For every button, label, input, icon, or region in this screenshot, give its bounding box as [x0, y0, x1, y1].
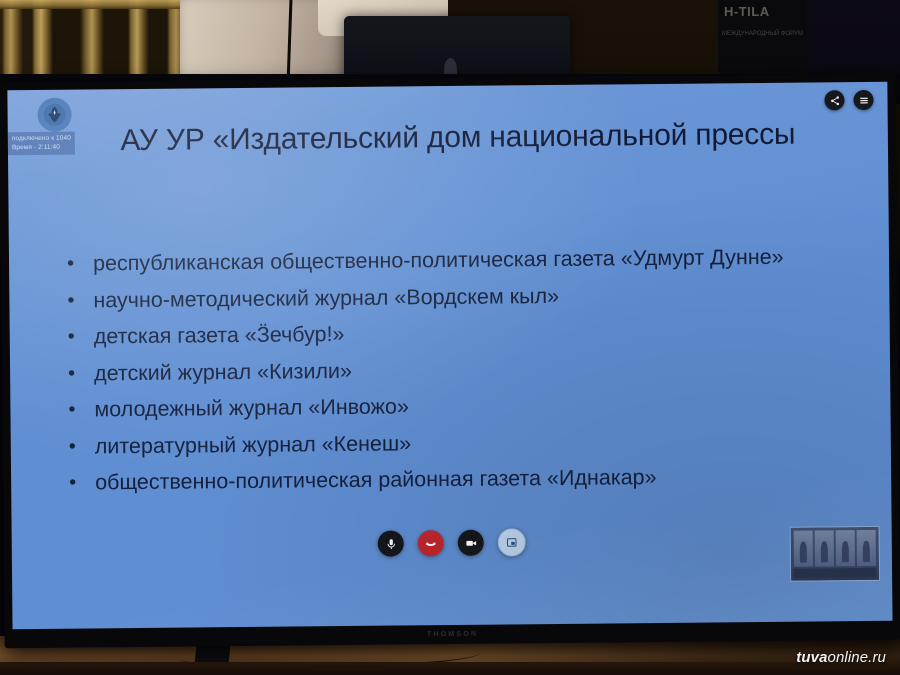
list-item-text: детская газета «Ӟечбур!» — [94, 313, 844, 354]
participant-grid — [794, 530, 876, 567]
microphone-icon — [384, 537, 397, 550]
self-view-thumbnail[interactable] — [790, 526, 881, 582]
hangup-button[interactable] — [418, 530, 444, 556]
hangup-icon — [424, 536, 438, 550]
list-item-text: общественно-политическая районная газета… — [95, 459, 845, 500]
bullet-marker-icon: • — [69, 466, 95, 500]
bullet-marker-icon: • — [69, 430, 95, 464]
list-item: • детский журнал «Кизили» — [68, 350, 844, 391]
list-item-text: республиканская общественно-политическая… — [93, 240, 843, 281]
share-icon — [829, 95, 840, 106]
present-screen-icon — [506, 536, 518, 548]
menu-button[interactable] — [853, 90, 873, 110]
list-item: • молодежный журнал «Инвожо» — [68, 386, 844, 427]
list-item: • детская газета «Ӟечбур!» — [68, 313, 844, 354]
list-item-text: детский журнал «Кизили» — [94, 350, 844, 391]
list-item: • научно-методический журнал «Вордскем к… — [67, 277, 843, 318]
connection-status-overlay: подключено к 1040 Время - 2:11:40 — [8, 132, 75, 156]
connection-status-line2: Время - 2:11:40 — [12, 143, 71, 153]
television: THOMSON подключено к 1040 Время - 2:11:4… — [0, 74, 900, 649]
tv-brand-label: THOMSON — [5, 627, 900, 643]
slide-bullet-list: • республиканская общественно-политическ… — [67, 240, 845, 503]
participant-tile — [857, 530, 876, 566]
list-item: • общественно-политическая районная газе… — [69, 459, 845, 500]
list-item: • республиканская общественно-политическ… — [67, 240, 843, 281]
list-item-text: литературный журнал «Кенеш» — [95, 423, 845, 464]
bullet-marker-icon: • — [68, 357, 94, 391]
participant-tile — [836, 530, 855, 566]
screen-top-right-controls — [824, 90, 873, 110]
menu-icon — [858, 94, 869, 105]
udmurtia-coat-of-arms-icon — [37, 98, 71, 132]
connection-status-line1: подключено к 1040 — [12, 134, 71, 144]
watermark: tuvaonline.ru — [796, 649, 886, 666]
share-button[interactable] — [824, 90, 844, 110]
bullet-marker-icon: • — [67, 284, 93, 318]
list-item: • литературный журнал «Кенеш» — [69, 423, 845, 464]
watermark-rest-part: online.ru — [828, 649, 886, 666]
list-item-text: молодежный журнал «Инвожо» — [94, 386, 844, 427]
bullet-marker-icon: • — [67, 247, 93, 281]
microphone-button[interactable] — [378, 530, 404, 556]
video-call-screen: подключено к 1040 Время - 2:11:40 — [7, 82, 892, 629]
photo-of-screen: H-TILA МЕЖДУНАРОДНЫЙ ФОРУМ THOMSON подк — [0, 0, 900, 675]
camera-icon — [464, 536, 477, 549]
floor — [0, 662, 900, 675]
list-item-text: научно-методический журнал «Вордскем кыл… — [93, 277, 843, 318]
participant-tile — [794, 531, 813, 567]
watermark-bold-part: tuva — [796, 649, 827, 666]
call-control-bar — [12, 525, 892, 561]
participant-tile — [815, 530, 834, 566]
camera-button[interactable] — [458, 530, 484, 556]
equipment-box-label: H-TILA — [724, 4, 770, 19]
present-screen-button[interactable] — [498, 528, 526, 556]
slide-title: АУ УР «Издательский дом национальной пре… — [68, 112, 848, 163]
bullet-marker-icon: • — [68, 393, 94, 427]
equipment-box-sublabel: МЕЖДУНАРОДНЫЙ ФОРУМ — [722, 30, 806, 38]
thumbnail-bottom-strip — [794, 568, 876, 578]
wall-right — [806, 0, 900, 80]
bullet-marker-icon: • — [68, 320, 94, 354]
